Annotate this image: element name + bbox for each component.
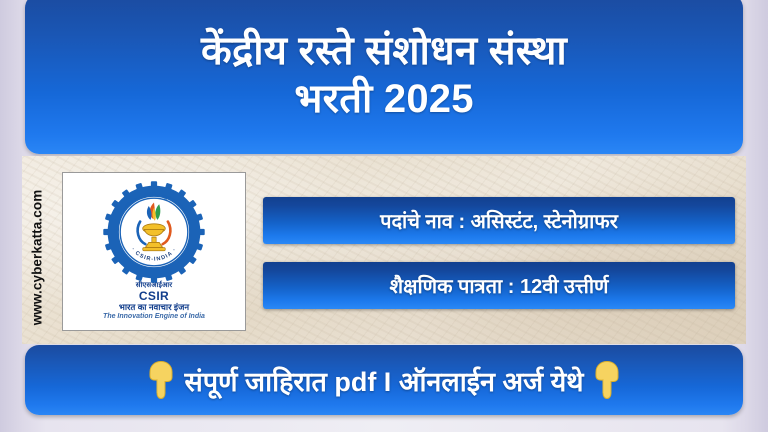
info-bar-post-name-text: पदांचे नाव : असिस्टंट, स्टेनोग्राफर (380, 207, 618, 234)
pointing-down-hand-icon (144, 360, 178, 400)
poster-root: केंद्रीय रस्ते संशोधन संस्था भरती 2025 w… (0, 0, 768, 432)
info-bar-education-qualification-text: शैक्षणिक पात्रता : 12वी उत्तीर्ण (390, 272, 609, 299)
logo-caption-english: The Innovation Engine of India (103, 313, 205, 321)
logo-caption-acronym: CSIR (103, 290, 205, 303)
page-title: केंद्रीय रस्ते संशोधन संस्था भरती 2025 (201, 27, 567, 123)
watermark-text: www.cyberkatta.com (30, 189, 45, 325)
logo-caption-hindi: भारत का नवाचार इंजन (103, 303, 205, 312)
logo-card: वैज्ञानिक तथा औद्योगिक अनुसंधान परिषद · … (62, 172, 246, 331)
cta-text: संपूर्ण जाहिरात pdf I ऑनलाईन अर्ज येथे (184, 362, 583, 399)
logo-caption: सीएसआईआर CSIR भारत का नवाचार इंजन The In… (103, 282, 205, 320)
csir-logo-icon: वैज्ञानिक तथा औद्योगिक अनुसंधान परिषद · … (102, 180, 206, 284)
info-bar-education-qualification: शैक्षणिक पात्रता : 12वी उत्तीर्ण (263, 262, 735, 309)
cta-banner[interactable]: संपूर्ण जाहिरात pdf I ऑनलाईन अर्ज येथे (25, 345, 743, 415)
pointing-down-hand-icon (590, 360, 624, 400)
header-banner: केंद्रीय रस्ते संशोधन संस्था भरती 2025 (25, 0, 743, 154)
info-bar-post-name: पदांचे नाव : असिस्टंट, स्टेनोग्राफर (263, 197, 735, 244)
watermark: www.cyberkatta.com (26, 192, 48, 322)
